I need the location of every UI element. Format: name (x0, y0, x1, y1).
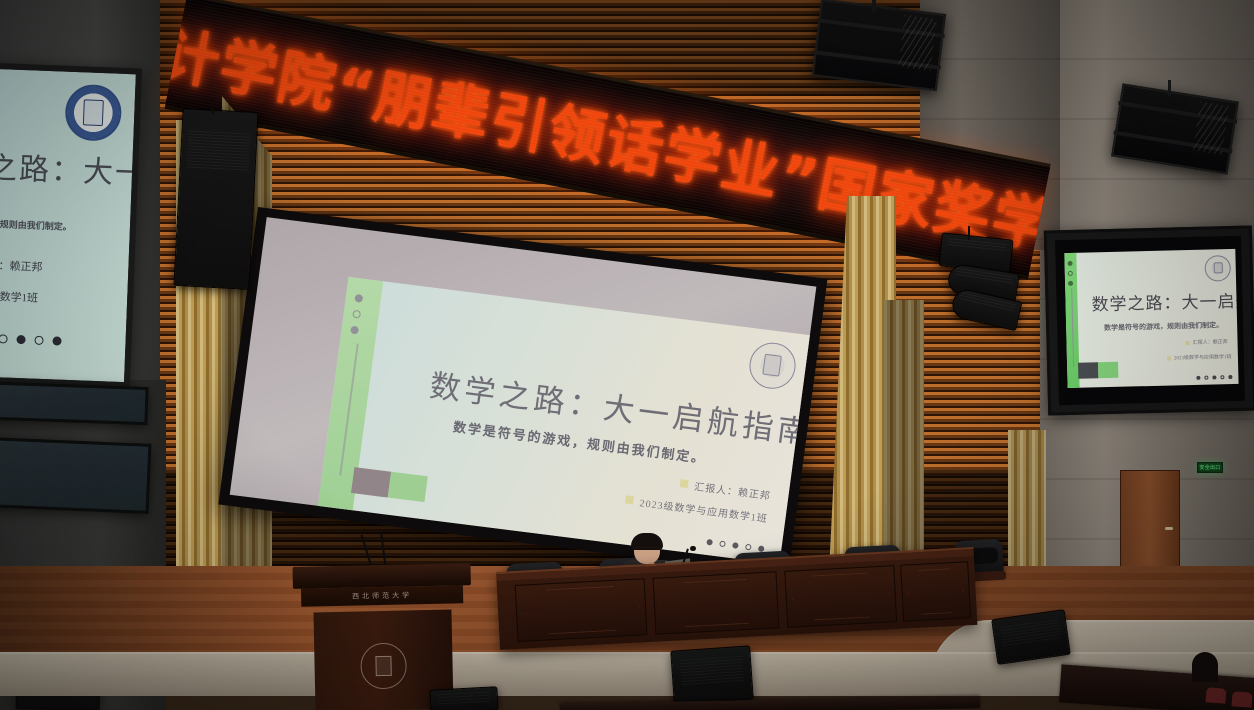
audience-seat (1206, 687, 1227, 703)
confidence-monitor-left: 数学之路：大一启航指南 数学是符号的游戏，规则由我们制定。 汇报人：赖正邦 20… (0, 60, 142, 389)
slide-presenter-text: 汇报人：赖正邦 (0, 256, 43, 275)
presentation-slide-left: 数学之路：大一启航指南 数学是符号的游戏，规则由我们制定。 汇报人：赖正邦 20… (0, 66, 136, 382)
university-seal-icon (360, 642, 407, 689)
slide-class: 2023级数学与应用数学1班 (1167, 353, 1232, 362)
wall-monitor-upper-left (0, 381, 149, 425)
speaker-hanger-right (968, 226, 970, 240)
slide-presenter-text: 汇报人：赖正邦 (694, 478, 772, 503)
slide-color-swatches (1078, 362, 1118, 379)
slide-presenter: 汇报人：赖正邦 (0, 256, 43, 275)
projection-screen-surface: 数学之路：大一启航指南 数学是符号的游戏，规则由我们制定。 汇报人：赖正邦 20… (230, 217, 817, 564)
university-seal-icon (1205, 255, 1232, 282)
slide-pager-dots (706, 539, 764, 552)
podium-nameplate: 西北师范大学 (301, 585, 463, 606)
podium-institution-text: 西北师范大学 (352, 590, 412, 601)
rig-mount-bracket-right (1168, 80, 1171, 96)
line-array-speaker-left (173, 108, 258, 290)
stage-floor-monitor (429, 686, 498, 710)
slide-title: 数学之路：大一启航指南 (0, 140, 136, 197)
lectern-podium: 西北师范大学 (298, 563, 467, 710)
stage-floor-monitor (670, 645, 754, 704)
bullet-marker (1186, 341, 1190, 345)
slide-class: 2023级数学与应用数学1班 (0, 285, 38, 306)
confidence-monitor-right: 数学之路：大一启航指南 数学是符号的游戏，规则由我们制定。 汇报人：赖正邦 20… (1044, 225, 1254, 415)
table-front-panel (900, 561, 971, 621)
bullet-marker (624, 496, 633, 505)
slide-class-text: 2023级数学与应用数学1班 (1174, 353, 1232, 361)
microphone-capsule-icon (690, 546, 696, 551)
table-front-panel (653, 571, 780, 634)
audience-seat-row (560, 696, 980, 710)
ceiling-speaker-rack-center (812, 0, 947, 91)
exit-sign-label: 安全出口 (1199, 464, 1220, 471)
slide-pager-dots (0, 334, 61, 346)
table-front-panel (515, 578, 648, 642)
confidence-monitor-right-panel: 数学之路：大一启航指南 数学是符号的游戏，规则由我们制定。 汇报人：赖正邦 20… (1055, 236, 1245, 405)
slide-presenter: 汇报人：赖正邦 (679, 476, 772, 502)
speaker-hanger-left (212, 98, 214, 114)
rig-mount-bracket-center (872, 0, 876, 12)
slide-rail-dots (1068, 261, 1074, 286)
slide-title: 数学之路：大一启航指南 (1091, 286, 1239, 316)
university-seal-icon (746, 340, 798, 391)
audience-seat (1232, 691, 1253, 707)
glasses-icon (635, 547, 659, 551)
slide-color-swatches (351, 467, 428, 502)
slide-subtitle: 数学是符号的游戏，规则由我们制定。 (0, 214, 72, 233)
exit-sign: 安全出口 (1197, 462, 1223, 473)
slide-subtitle: 数学是符号的游戏，规则由我们制定。 (1104, 320, 1223, 333)
wall-monitor-lower-left (0, 436, 151, 514)
audience-member-head (1192, 652, 1218, 682)
table-front-panel (784, 565, 897, 628)
university-seal-icon (64, 84, 122, 142)
door-handle-icon[interactable] (1165, 527, 1173, 530)
confidence-monitor-left-panel: 数学之路：大一启航指南 数学是符号的游戏，规则由我们制定。 汇报人：赖正邦 20… (0, 66, 136, 382)
lecture-hall-photo: 数学与统计学院“朋辈引领话学业”国家奖学金分享会 数学之路：大一启航指南 (0, 0, 1254, 710)
slide-class-text: 2023级数学与应用数学1班 (0, 285, 38, 306)
bullet-marker (679, 479, 688, 488)
slide-presenter-text: 汇报人：赖正邦 (1193, 339, 1228, 347)
bullet-marker (1167, 356, 1171, 360)
slide-presenter: 汇报人：赖正邦 (1186, 339, 1228, 347)
slide-pager-dots (1196, 375, 1232, 380)
presentation-slide-main: 数学之路：大一启航指南 数学是符号的游戏，规则由我们制定。 汇报人：赖正邦 20… (317, 277, 816, 564)
presentation-slide-right: 数学之路：大一启航指南 数学是符号的游戏，规则由我们制定。 汇报人：赖正邦 20… (1065, 249, 1239, 388)
